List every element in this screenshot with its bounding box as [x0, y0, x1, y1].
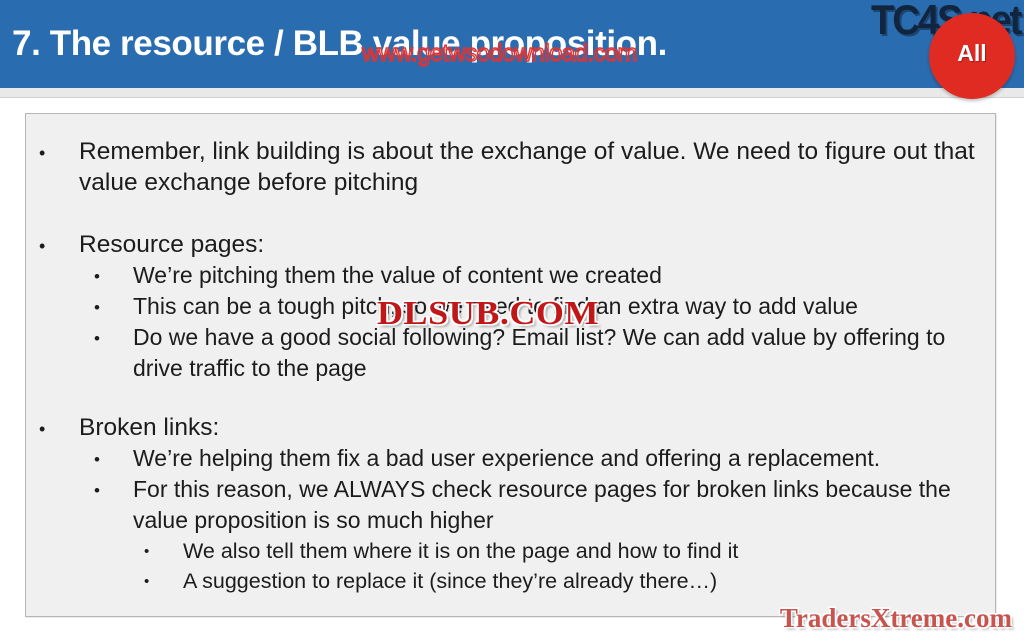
bullet-text: Resource pages:: [79, 229, 979, 260]
bullet-item-l3: • A suggestion to replace it (since they…: [36, 566, 979, 596]
bullet-glyph-icon: •: [144, 574, 149, 589]
bullet-glyph-icon: •: [144, 544, 149, 559]
bullet-glyph-icon: •: [94, 451, 100, 468]
bullet-item-l2: • Do we have a good social following? Em…: [36, 322, 979, 384]
content-body-box: • Remember, link building is about the e…: [25, 113, 996, 617]
bullet-text: Broken links:: [79, 412, 979, 443]
bullet-text: We’re pitching them the value of content…: [133, 260, 979, 291]
bullet-glyph-icon: •: [94, 299, 100, 316]
bullet-item-l2: • For this reason, we ALWAYS check resou…: [36, 474, 979, 536]
bullet-item-l1: • Resource pages:: [36, 229, 979, 260]
slide: 7. The resource / BLB value proposition.…: [0, 0, 1024, 640]
bullet-item-l2: • This can be a tough pitch, so we need …: [36, 291, 979, 322]
bullet-list: • Remember, link building is about the e…: [36, 136, 979, 596]
bullet-item-l2: • We’re helping them fix a bad user expe…: [36, 443, 979, 474]
bullet-text: We also tell them where it is on the pag…: [183, 536, 979, 566]
bullet-glyph-icon: •: [94, 482, 100, 499]
bullet-item-l1: • Broken links:: [36, 412, 979, 443]
bullet-item-l1: • Remember, link building is about the e…: [36, 136, 979, 198]
header-underline: [0, 88, 1024, 98]
bullet-text: This can be a tough pitch, so we need to…: [133, 291, 979, 322]
bullet-text: For this reason, we ALWAYS check resourc…: [133, 474, 979, 536]
bullet-item-l3: • We also tell them where it is on the p…: [36, 536, 979, 566]
bullet-glyph-icon: •: [94, 268, 100, 285]
bullet-text: We’re helping them fix a bad user experi…: [133, 443, 979, 474]
bullet-item-l2: • We’re pitching them the value of conte…: [36, 260, 979, 291]
bullet-glyph-icon: •: [39, 237, 45, 255]
bullet-text: Do we have a good social following? Emai…: [133, 322, 979, 384]
bullet-glyph-icon: •: [39, 420, 45, 438]
bullet-text: A suggestion to replace it (since they’r…: [183, 566, 979, 596]
bullet-text: Remember, link building is about the exc…: [79, 136, 979, 198]
bullet-glyph-icon: •: [39, 144, 45, 162]
bullet-spacer: [36, 384, 979, 412]
bullet-glyph-icon: •: [94, 330, 100, 347]
logo-badge-label: All: [929, 40, 1015, 67]
bullet-spacer: [36, 198, 979, 229]
slide-title: 7. The resource / BLB value proposition.: [12, 22, 802, 66]
